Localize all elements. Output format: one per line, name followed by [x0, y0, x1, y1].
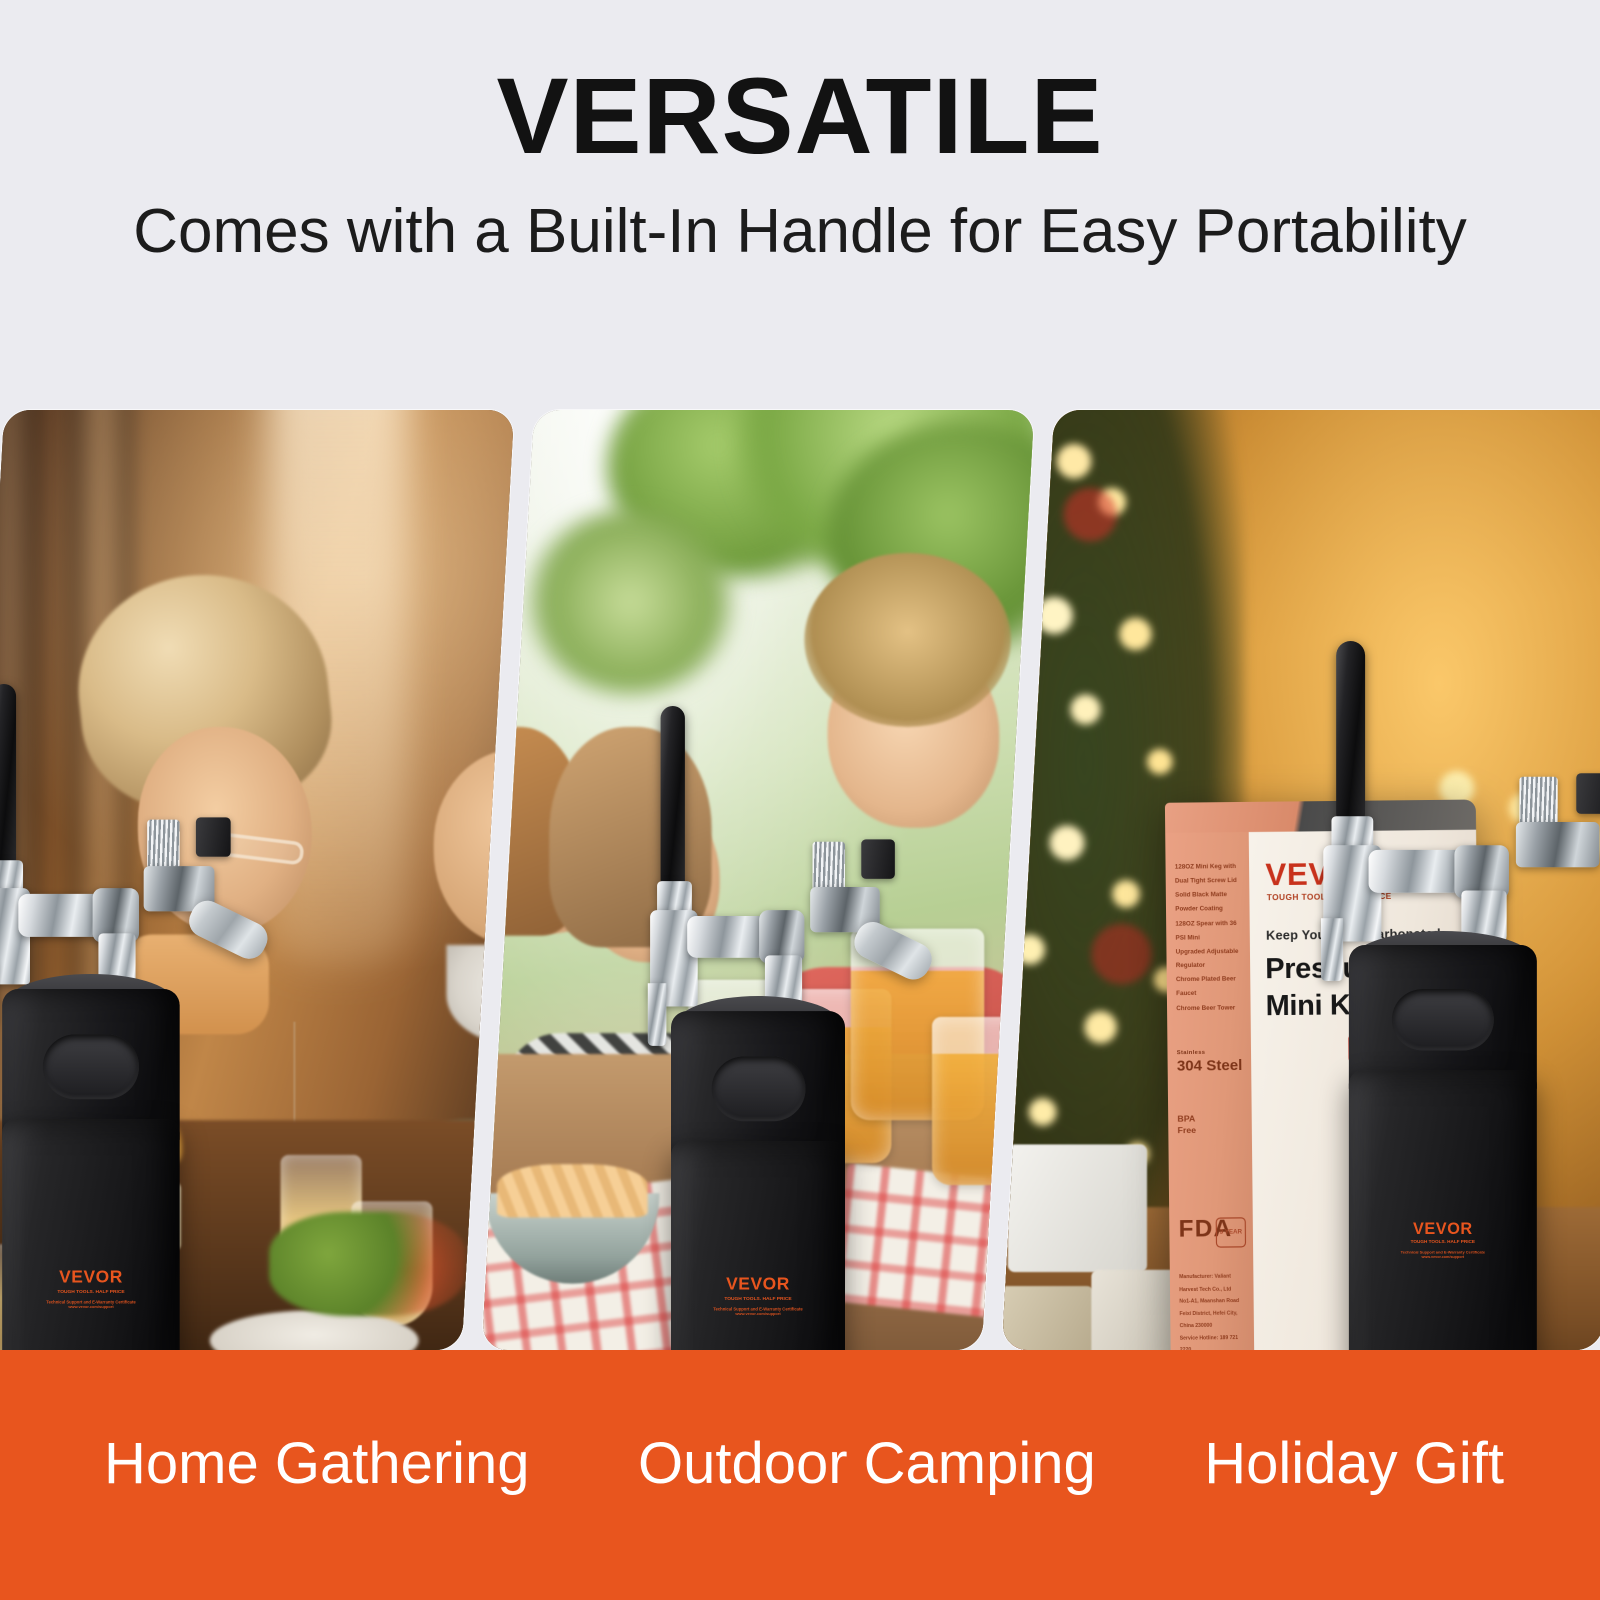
- keg-body: VEVOR TOUGH TOOLS. HALF PRICE Technical …: [1349, 1070, 1537, 1350]
- use-case-banner: Home Gathering Outdoor Camping Holiday G…: [0, 1350, 1600, 1600]
- keg-brand-tagline: TOUGH TOOLS. HALF PRICE: [1349, 1239, 1537, 1245]
- keg-brand-name: VEVOR: [2, 1268, 179, 1288]
- faucet-nozzle: [647, 984, 666, 1046]
- keg-body: VEVOR TOUGH TOOLS. HALF PRICE Technical …: [671, 1141, 845, 1350]
- bokeh-light: [1084, 1011, 1116, 1043]
- gift-box: [1002, 1286, 1094, 1350]
- keg-brand-tagline: TOUGH TOOLS. HALF PRICE: [2, 1289, 179, 1295]
- bokeh-light: [1050, 825, 1085, 860]
- tree-foliage: [526, 509, 735, 695]
- panel-strip: VEVOR TOUGH TOOLS. HALF PRICE Technical …: [0, 410, 1600, 1350]
- keg-brand-tagline: TOUGH TOOLS. HALF PRICE: [671, 1296, 845, 1302]
- box-bpa-badge: BPA Free: [1177, 1113, 1245, 1137]
- regulator-cap: [1577, 774, 1600, 814]
- bokeh-light: [1057, 444, 1092, 479]
- salad-bowl: [268, 1212, 465, 1316]
- box-side-panel: 128OZ Mini Keg with Dual Tight Screw Lid…: [1165, 833, 1254, 1350]
- man-head: [434, 749, 514, 946]
- box-warranty-seal: 3 YEAR: [1216, 1218, 1246, 1248]
- keg-brand-logo: VEVOR TOUGH TOOLS. HALF PRICE Technical …: [2, 1268, 179, 1310]
- box-manufacturer-address: Manufacturer: Valiant Harvest Tech Co., …: [1179, 1271, 1248, 1350]
- header: VERSATILE Comes with a Built-In Handle f…: [0, 0, 1600, 410]
- banner-row: Home Gathering Outdoor Camping Holiday G…: [0, 1435, 1600, 1515]
- panel-1-photo: VEVOR TOUGH TOOLS. HALF PRICE Technical …: [0, 410, 514, 1350]
- person-hair: [804, 553, 1010, 727]
- snacks: [497, 1165, 648, 1218]
- regulator-cap: [861, 839, 896, 879]
- keg-brand-logo: VEVOR TOUGH TOOLS. HALF PRICE Technical …: [671, 1275, 845, 1317]
- bokeh-light: [1036, 596, 1073, 633]
- tap-handle: [661, 706, 685, 893]
- regulator-knob: [813, 842, 845, 890]
- keg-built-in-handle: [1392, 989, 1493, 1051]
- keg-support-url: www.vevor.com/support: [2, 1305, 179, 1310]
- panel-2-photo: VEVOR TOUGH TOOLS. HALF PRICE Technical …: [482, 410, 1035, 1350]
- panel-holiday-gift: 128OZ Mini Keg with Dual Tight Screw Lid…: [1002, 410, 1600, 1350]
- banner-item-home-gathering: Home Gathering: [104, 1435, 530, 1515]
- tap-handle: [1336, 641, 1365, 828]
- bokeh-light: [1112, 880, 1140, 908]
- mini-keg: VEVOR TOUGH TOOLS. HALF PRICE Technical …: [2, 989, 179, 1350]
- gift-box: [1008, 1145, 1147, 1273]
- keg-brand-logo: VEVOR TOUGH TOOLS. HALF PRICE Technical …: [1349, 1219, 1537, 1260]
- tap-handle: [0, 684, 16, 871]
- box-material-value: 304 Steel: [1177, 1056, 1243, 1074]
- mini-keg: VEVOR TOUGH TOOLS. HALF PRICE Technical …: [1349, 945, 1537, 1350]
- panel-home-gathering: VEVOR TOUGH TOOLS. HALF PRICE Technical …: [0, 410, 514, 1350]
- regulator-cap: [196, 817, 231, 857]
- keg-built-in-handle: [43, 1034, 139, 1099]
- keg-support-url: www.vevor.com/support: [1349, 1255, 1537, 1260]
- banner-item-outdoor-camping: Outdoor Camping: [638, 1435, 1096, 1515]
- regulator-body: [1516, 822, 1599, 867]
- box-side-specs: 128OZ Mini Keg with Dual Tight Screw Lid…: [1175, 860, 1244, 1016]
- panel-3-photo: 128OZ Mini Keg with Dual Tight Screw Lid…: [1002, 410, 1600, 1350]
- keg-support-url: www.vevor.com/support: [671, 1312, 845, 1317]
- bokeh-ornament: [1091, 924, 1151, 984]
- keg-brand-name: VEVOR: [1349, 1219, 1537, 1238]
- banner-item-holiday-gift: Holiday Gift: [1204, 1435, 1504, 1515]
- mini-keg: VEVOR TOUGH TOOLS. HALF PRICE Technical …: [671, 1011, 845, 1350]
- page-title: VERSATILE: [0, 62, 1600, 170]
- bokeh-light: [1070, 695, 1100, 725]
- faucet-nozzle: [1320, 918, 1342, 980]
- bokeh-ornament: [1064, 487, 1117, 540]
- regulator-knob: [1519, 777, 1557, 825]
- box-material-badge: Stainless 304 Steel: [1177, 1051, 1243, 1076]
- bokeh-light: [1015, 935, 1045, 965]
- keg-built-in-handle: [711, 1056, 805, 1121]
- page-subtitle: Comes with a Built-In Handle for Easy Po…: [0, 196, 1600, 267]
- keg-body: VEVOR TOUGH TOOLS. HALF PRICE Technical …: [2, 1119, 179, 1350]
- keg-brand-name: VEVOR: [671, 1275, 845, 1295]
- bokeh-light: [1029, 1098, 1057, 1126]
- panel-outdoor-camping: VEVOR TOUGH TOOLS. HALF PRICE Technical …: [482, 410, 1035, 1350]
- regulator-knob: [147, 820, 180, 868]
